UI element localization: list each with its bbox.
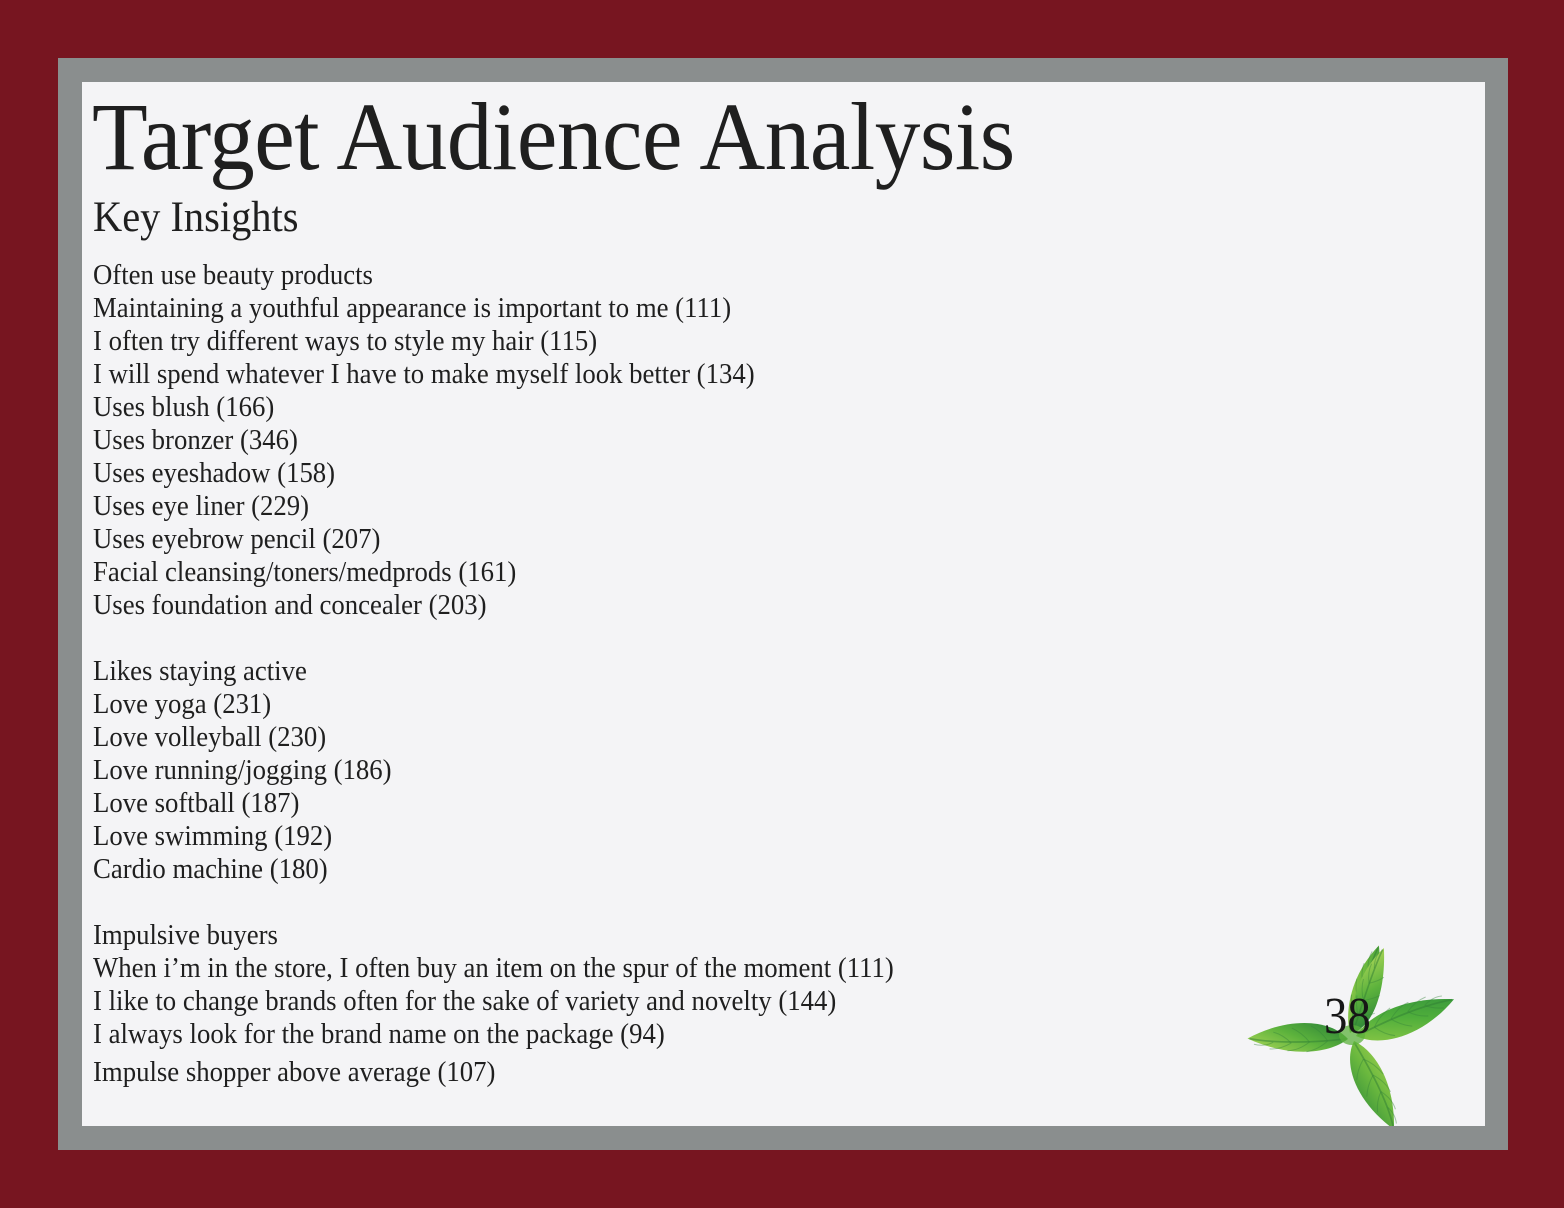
page-title: Target Audience Analysis [92, 87, 1015, 188]
insight-group-heading: Likes staying active [93, 655, 1363, 688]
insight-line: Love running/jogging (186) [93, 754, 1363, 787]
insight-line: Impulse shopper above average (107) [93, 1056, 1363, 1089]
insight-line: Love softball (187) [93, 787, 1363, 820]
insight-line: I often try different ways to style my h… [93, 325, 1363, 358]
insight-line: Uses bronzer (346) [93, 424, 1363, 457]
insight-group-heading: Often use beauty products [93, 259, 1363, 292]
insight-group-heading: Impulsive buyers [93, 919, 1363, 952]
insight-line: Love volleyball (230) [93, 721, 1363, 754]
insight-line: Uses blush (166) [93, 391, 1363, 424]
insight-line: Cardio machine (180) [93, 853, 1363, 886]
insight-group-active: Likes staying active Love yoga (231) Lov… [93, 655, 1423, 886]
slide-content-area: Target Audience Analysis Key Insights Of… [82, 82, 1485, 1126]
insight-line: When i’m in the store, I often buy an it… [93, 952, 1363, 985]
insight-line: I like to change brands often for the sa… [93, 985, 1363, 1018]
insight-line: Uses eye liner (229) [93, 490, 1363, 523]
page-subtitle: Key Insights [93, 194, 298, 241]
insight-line: I always look for the brand name on the … [93, 1018, 1363, 1051]
insight-group-beauty: Often use beauty products Maintaining a … [93, 259, 1423, 622]
slide-frame: Target Audience Analysis Key Insights Of… [58, 58, 1508, 1150]
page-number-decoration: 38 [1238, 929, 1483, 1126]
insight-group-impulsive: Impulsive buyers When i’m in the store, … [93, 919, 1423, 1089]
insight-line: Uses eyeshadow (158) [93, 457, 1363, 490]
insight-line: Love swimming (192) [93, 820, 1363, 853]
insights-list: Often use beauty products Maintaining a … [93, 259, 1423, 1089]
insight-line: Love yoga (231) [93, 688, 1363, 721]
insight-line: Uses foundation and concealer (203) [93, 589, 1363, 622]
insight-line: I will spend whatever I have to make mys… [93, 358, 1363, 391]
insight-line: Facial cleansing/toners/medprods (161) [93, 556, 1363, 589]
insight-line: Maintaining a youthful appearance is imp… [93, 292, 1363, 325]
page-number: 38 [1324, 991, 1371, 1043]
insight-line: Uses eyebrow pencil (207) [93, 523, 1363, 556]
